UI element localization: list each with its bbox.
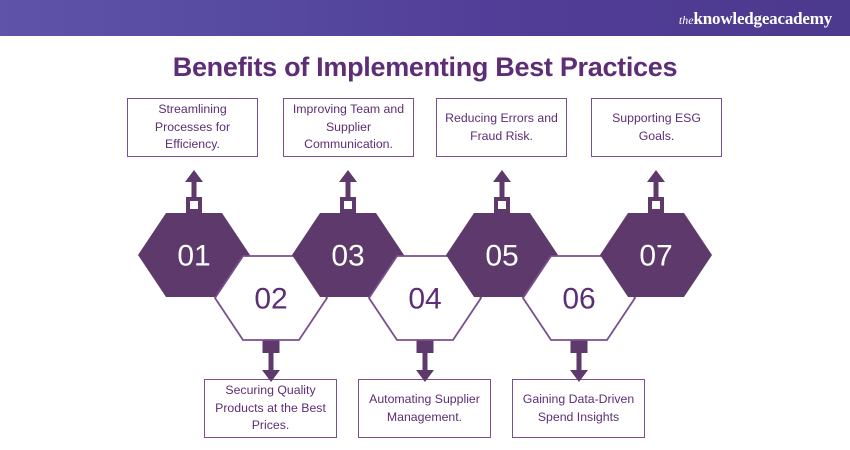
top-callout-text-07: Supporting ESG Goals.	[597, 110, 716, 145]
connector-up-05	[493, 170, 511, 211]
hexagon-label-03: 03	[331, 240, 364, 273]
header-bar: theknowledgeacademy	[0, 0, 850, 36]
bottom-callout-box-04: Automating Supplier Management.	[358, 379, 491, 438]
brand-logo-the: the	[679, 13, 694, 27]
top-callout-text-05: Reducing Errors and Fraud Risk.	[442, 110, 561, 145]
top-callout-box-03: Improving Team and Supplier Communicatio…	[283, 98, 414, 157]
connector-up-01	[185, 170, 203, 211]
top-callout-text-01: Streamlining Processes for Efficiency.	[133, 101, 252, 153]
top-callout-box-05: Reducing Errors and Fraud Risk.	[436, 98, 567, 157]
bottom-callout-text-06: Gaining Data-Driven Spend Insights	[518, 391, 639, 426]
top-callout-box-07: Supporting ESG Goals.	[591, 98, 722, 157]
hexagon-label-07: 07	[639, 240, 672, 273]
bottom-callout-text-04: Automating Supplier Management.	[364, 391, 485, 426]
hexagon-label-01: 01	[177, 240, 210, 273]
connector-up-03	[339, 170, 357, 211]
hexagon-label-04: 04	[408, 283, 441, 316]
brand-logo-main: knowledgeacademy	[694, 9, 832, 28]
hexagons-layer: 01020304050607	[138, 213, 712, 340]
page-title: Benefits of Implementing Best Practices	[0, 52, 850, 83]
hexagon-label-05: 05	[485, 240, 518, 273]
hexagon-label-06: 06	[562, 283, 595, 316]
connector-down-02	[262, 336, 280, 382]
top-callout-box-01: Streamlining Processes for Efficiency.	[127, 98, 258, 157]
hexagon-label-02: 02	[254, 283, 287, 316]
bottom-callout-text-02: Securing Quality Products at the Best Pr…	[210, 382, 331, 434]
top-callout-text-03: Improving Team and Supplier Communicatio…	[289, 101, 408, 153]
connector-down-04	[416, 336, 434, 382]
connector-down-06	[570, 336, 588, 382]
bottom-callout-box-06: Gaining Data-Driven Spend Insights	[512, 379, 645, 438]
brand-logo: theknowledgeacademy	[679, 10, 832, 27]
connector-up-07	[647, 170, 665, 211]
bottom-callout-box-02: Securing Quality Products at the Best Pr…	[204, 379, 337, 438]
